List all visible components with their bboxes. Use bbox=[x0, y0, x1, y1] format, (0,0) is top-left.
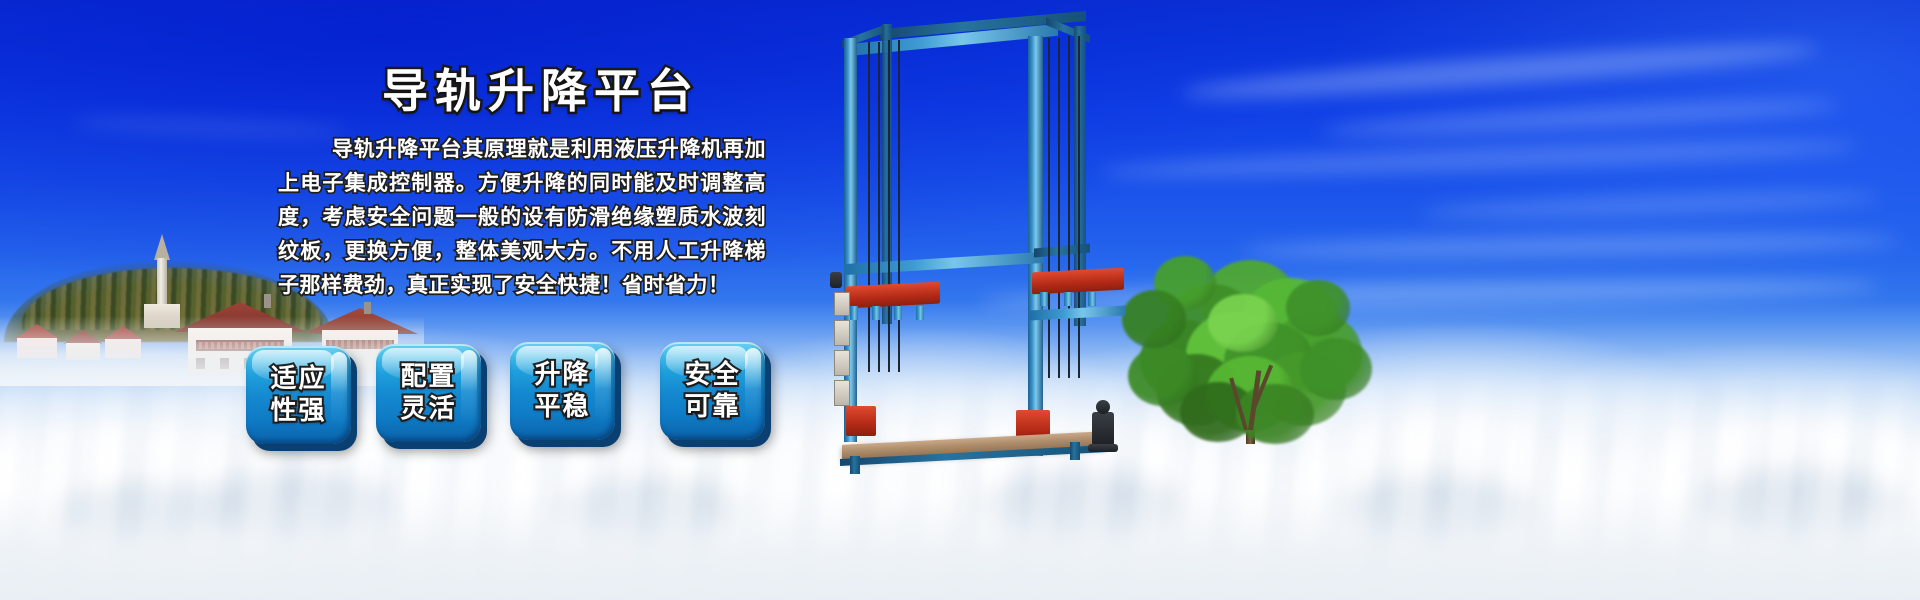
lift-red-crosshead-right bbox=[1032, 268, 1124, 295]
lift-cable bbox=[1078, 36, 1080, 378]
product-banner: 导轨升降平台 导轨升降平台其原理就是利用液压升降机再加上电子集成控制器。方便升降… bbox=[0, 0, 1920, 600]
feature-label-line2: 可靠 bbox=[684, 391, 740, 423]
lift-base-block-left bbox=[846, 406, 876, 436]
feature-label-line1: 安全 bbox=[684, 359, 740, 391]
lift-cable bbox=[1068, 36, 1070, 378]
lift-platform-leg bbox=[850, 456, 860, 474]
lift-post-front-right bbox=[1028, 36, 1043, 456]
green-tree bbox=[1110, 250, 1390, 470]
lift-pulley-mount bbox=[894, 306, 902, 320]
lift-cable bbox=[878, 42, 880, 372]
tree-foliage-cluster bbox=[1208, 294, 1278, 352]
page-title: 导轨升降平台 bbox=[382, 55, 700, 121]
lift-cable bbox=[1058, 38, 1060, 378]
lift-post-back-left bbox=[882, 24, 892, 324]
feature-label-line2: 性强 bbox=[270, 395, 326, 427]
feature-label-line1: 适应 bbox=[270, 363, 326, 395]
lift-pulley-mount bbox=[1040, 292, 1048, 306]
lift-control-box bbox=[834, 292, 850, 316]
church-spire bbox=[154, 234, 170, 260]
description-paragraph: 导轨升降平台其原理就是利用液压升降机再加上电子集成控制器。方便升降的同时能及时调… bbox=[278, 132, 766, 302]
feature-button-configuration[interactable]: 配置 灵活 bbox=[376, 344, 481, 442]
lift-hydraulic-pump bbox=[1092, 412, 1114, 446]
guide-rail-lift-machine bbox=[820, 8, 1140, 488]
feature-label-line1: 升降 bbox=[534, 359, 590, 391]
lift-sensor bbox=[830, 272, 842, 288]
feature-button-adaptability[interactable]: 适应 性强 bbox=[246, 346, 351, 444]
lift-cable bbox=[868, 42, 870, 372]
feature-button-safety[interactable]: 安全 可靠 bbox=[660, 342, 765, 440]
feature-label-line1: 配置 bbox=[400, 361, 456, 393]
feature-button-smooth-lifting[interactable]: 升降 平稳 bbox=[510, 342, 615, 440]
lift-control-box bbox=[834, 380, 850, 406]
feature-label-line2: 平稳 bbox=[534, 391, 590, 423]
feature-button-row: 适应 性强 配置 灵活 升降 平稳 安全 可靠 bbox=[246, 342, 786, 452]
lift-cable bbox=[898, 40, 900, 372]
lift-cable bbox=[888, 40, 890, 372]
lift-pulley-mount bbox=[850, 306, 858, 320]
lift-pump-base bbox=[1088, 444, 1118, 452]
tree-foliage-cluster bbox=[1286, 280, 1350, 336]
lift-pump-motor bbox=[1096, 400, 1110, 414]
tree-foliage-cluster bbox=[1300, 338, 1372, 400]
lift-mid-beam bbox=[844, 252, 1044, 275]
lift-control-box bbox=[834, 320, 850, 346]
lift-pulley-mount bbox=[872, 306, 880, 320]
lift-red-crosshead-left bbox=[846, 282, 940, 309]
lift-cable bbox=[1048, 38, 1050, 378]
lift-pulley-mount bbox=[1088, 292, 1096, 306]
feature-label-line2: 灵活 bbox=[400, 393, 456, 425]
tree-foliage-cluster bbox=[1236, 384, 1314, 444]
bottom-mist bbox=[0, 490, 1920, 600]
lift-control-box bbox=[834, 350, 850, 376]
lift-pulley-mount bbox=[1064, 292, 1072, 306]
lift-platform-leg bbox=[1070, 442, 1080, 460]
lift-pulley-mount bbox=[916, 306, 924, 320]
